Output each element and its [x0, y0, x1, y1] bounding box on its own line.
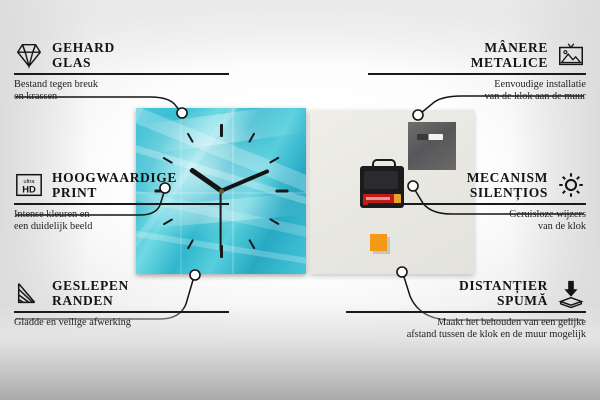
- feature-gehard-glas: GEHARD GLAS Bestand tegen breuk en krass…: [14, 40, 229, 103]
- feature-distantier-spuma: DISTANȚIER SPUMĂ Maakt het behouden van …: [346, 278, 586, 341]
- feature-title-line2: SILENȚIOS: [467, 185, 548, 200]
- feature-desc-line2: en krassen: [14, 91, 229, 103]
- feature-desc-line1: Geruisloze wijzers: [368, 209, 586, 221]
- gear-icon: [556, 170, 586, 200]
- mechanism-hook: [372, 159, 396, 170]
- feature-desc-line1: Eenvoudige installatie: [368, 79, 586, 91]
- feature-title-line1: MÂNERE: [471, 40, 548, 55]
- arrow-down-block-icon: [556, 278, 586, 308]
- foam-spacer: [370, 234, 387, 251]
- svg-text:HD: HD: [22, 185, 36, 195]
- feature-desc-line2: afstand tussen de klok en de muur mogeli…: [346, 329, 586, 341]
- feature-title-line2: METALICE: [471, 55, 548, 70]
- feature-desc-line1: Bestand tegen breuk: [14, 79, 229, 91]
- feature-title-line1: HOOGWAARDIGE: [52, 170, 177, 185]
- feature-desc-line1: Gladde en veilige afwerking: [14, 317, 229, 329]
- beveled-edges-icon: [14, 278, 44, 308]
- hanger-slot: [417, 134, 443, 140]
- feature-mecanism-silentios: MECANISM SILENȚIOS Geruisloze wijzers va…: [368, 170, 586, 233]
- feature-title-line2: SPUMĂ: [459, 293, 548, 308]
- feature-title-line1: DISTANȚIER: [459, 278, 548, 293]
- feature-desc-line2: van de klok aan de muur: [368, 91, 586, 103]
- feature-rule: [346, 311, 586, 313]
- feature-title-line2: PRINT: [52, 185, 177, 200]
- feature-desc-line1: Intense kleuren en: [14, 209, 229, 221]
- clock-tick-3: [275, 190, 288, 193]
- picture-frame-icon: [556, 40, 586, 70]
- feature-rule: [368, 73, 586, 75]
- feature-rule: [14, 73, 229, 75]
- feature-title-line2: RANDEN: [52, 293, 129, 308]
- feature-title-line1: GESLEPEN: [52, 278, 129, 293]
- clock-tick-12: [220, 124, 223, 137]
- diamond-icon: [14, 40, 44, 70]
- feature-desc-line2: een duidelijk beeld: [14, 221, 229, 233]
- feature-rule: [14, 203, 229, 205]
- feature-manere-metalice: MÂNERE METALICE Eenvoudige installatie v…: [368, 40, 586, 103]
- feature-hoogwaardige-print: ultra HD HOOGWAARDIGE PRINT Intense kleu…: [14, 170, 229, 233]
- feature-desc-line1: Maakt het behouden van een gelijke: [346, 317, 586, 329]
- feature-title-line1: GEHARD: [52, 40, 115, 55]
- feature-geslepen-randen: GESLEPEN RANDEN Gladde en veilige afwerk…: [14, 278, 229, 329]
- feature-title-line2: GLAS: [52, 55, 115, 70]
- ultra-hd-icon: ultra HD: [14, 170, 44, 200]
- infographic-canvas: GEHARD GLAS Bestand tegen breuk en krass…: [0, 0, 600, 400]
- feature-rule: [14, 311, 229, 313]
- feature-desc-line2: van de klok: [368, 221, 586, 233]
- feature-rule: [368, 203, 586, 205]
- metal-hanger: [408, 122, 456, 170]
- feature-title-line1: MECANISM: [467, 170, 548, 185]
